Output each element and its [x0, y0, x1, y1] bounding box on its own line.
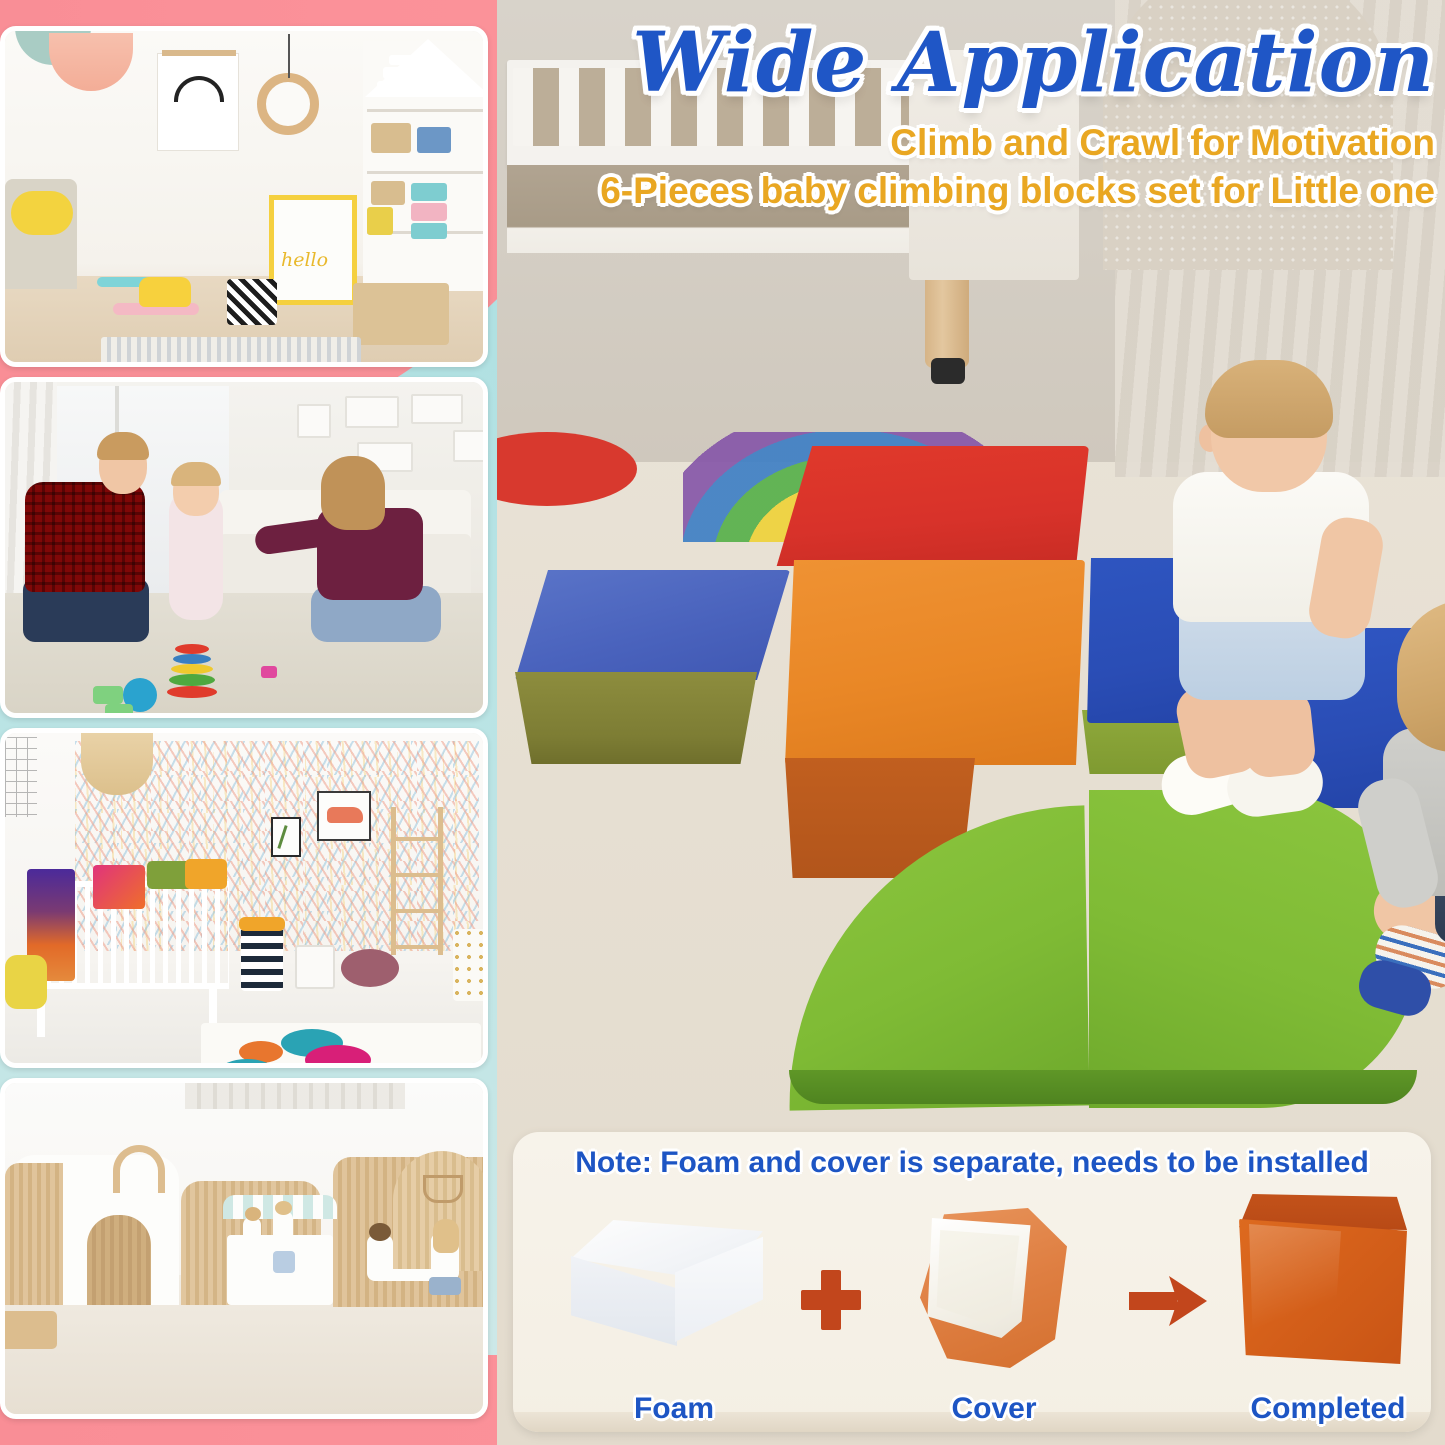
cover-label: Cover [869, 1392, 1119, 1426]
foam-block-icon [571, 1220, 763, 1360]
note-title: Note: Foam and cover is separate, needs … [513, 1146, 1431, 1180]
subtitle-primary: Climb and Crawl for Motivation [520, 122, 1435, 164]
thumbnail-nursery[interactable] [0, 728, 488, 1069]
child-sitting-on-green-block [1377, 600, 1445, 1020]
assembly-step-cover: Cover [869, 1198, 1119, 1428]
rainbow-poster [157, 53, 239, 151]
page-title: Wide Application [520, 22, 1435, 106]
child-sitting-on-orange-cube [1165, 368, 1395, 808]
thumbnail-indoor-play-center[interactable] [0, 1078, 488, 1419]
arrow-right-icon [1129, 1276, 1207, 1326]
foam-block-orange-cube [785, 560, 1085, 765]
assembled-orange-block-icon [1239, 1194, 1407, 1364]
crib-caster-wheel [931, 358, 965, 384]
assembly-step-completed: Completed [1203, 1198, 1431, 1428]
fabric-cover-icon [917, 1208, 1067, 1368]
round-mirror [257, 73, 319, 135]
thumbnail-family-living-room[interactable] [0, 377, 488, 718]
plus-icon [801, 1270, 861, 1330]
foam-block-ramp-top [515, 570, 790, 680]
thumbnail-playroom[interactable]: hello [0, 26, 488, 367]
hello-frame-text: hello [281, 249, 328, 271]
coffee-cup-icon [423, 1175, 463, 1203]
installation-note-panel: Note: Foam and cover is separate, needs … [513, 1132, 1431, 1432]
assembly-steps-row: Foam Cover [513, 1198, 1431, 1428]
foam-block-green-edge [789, 1070, 1417, 1104]
headline-block: Wide Application Climb and Crawl for Mot… [520, 22, 1435, 212]
foam-block-red-slab [767, 446, 1089, 566]
completed-label: Completed [1203, 1392, 1431, 1426]
foam-label: Foam [549, 1392, 799, 1426]
scene-thumbnail-column: hello [0, 0, 500, 1445]
product-marketing-image: Wide Application Climb and Crawl for Mot… [0, 0, 1445, 1445]
subtitle-secondary: 6-Pieces baby climbing blocks set for Li… [520, 170, 1435, 212]
foam-block-ramp-side [515, 672, 790, 764]
assembly-step-foam: Foam [549, 1198, 799, 1428]
